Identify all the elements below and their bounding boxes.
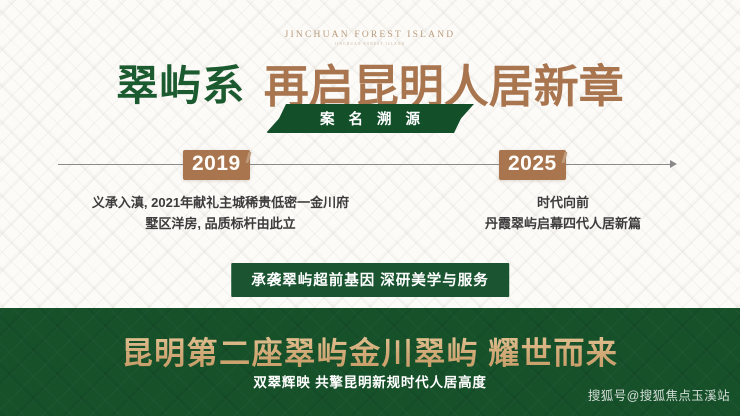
timeline-entry-2025-text: 时代向前 丹霞翠屿启幕四代人居新篇 (418, 192, 708, 235)
timeline-entry-line: 义承入滇, 2021年献礼主城稀贵低密一金川府 (48, 192, 393, 213)
timeline-entry-line: 时代向前 (418, 192, 708, 213)
footer-block: 昆明第二座翠屿金川翠屿 耀世而来 双翠辉映 共擎昆明新规时代人居高度 搜狐号@搜… (0, 308, 740, 416)
timeline-entry-line: 墅区洋房, 品质标杆由此立 (48, 213, 393, 234)
page-title-series: 翠屿系 (116, 64, 245, 110)
brand-wordmark: JINCHUAN FOREST ISLAND JINCHUAN FOREST I… (0, 30, 740, 46)
timeline-year-badge-2019: 2019 (183, 150, 250, 180)
timeline-arrow-icon (670, 160, 677, 168)
watermark-label: 搜狐号@搜狐焦点玉溪站 (588, 385, 730, 404)
footer-title: 昆明第二座翠屿金川翠屿 耀世而来 (0, 328, 740, 373)
brand-wordmark-secondary: JINCHUAN FOREST ISLAND (0, 42, 740, 46)
highlight-banner: 承袭翠屿超前基因 深研美学与服务 (231, 263, 509, 297)
timeline-entry-2019-text: 义承入滇, 2021年献礼主城稀贵低密一金川府 墅区洋房, 品质标杆由此立 (48, 192, 393, 235)
timeline-axis (58, 164, 674, 165)
timeline-entry-line: 丹霞翠屿启幕四代人居新篇 (418, 213, 708, 234)
ribbon-label: 案 名 溯 源 (315, 108, 425, 129)
brand-wordmark-primary: JINCHUAN FOREST ISLAND (0, 30, 740, 40)
poster-canvas: JINCHUAN FOREST ISLAND JINCHUAN FOREST I… (0, 0, 740, 416)
section-ribbon-name-origin: 案 名 溯 源 (272, 104, 468, 133)
timeline-year-badge-2025: 2025 (499, 150, 566, 180)
